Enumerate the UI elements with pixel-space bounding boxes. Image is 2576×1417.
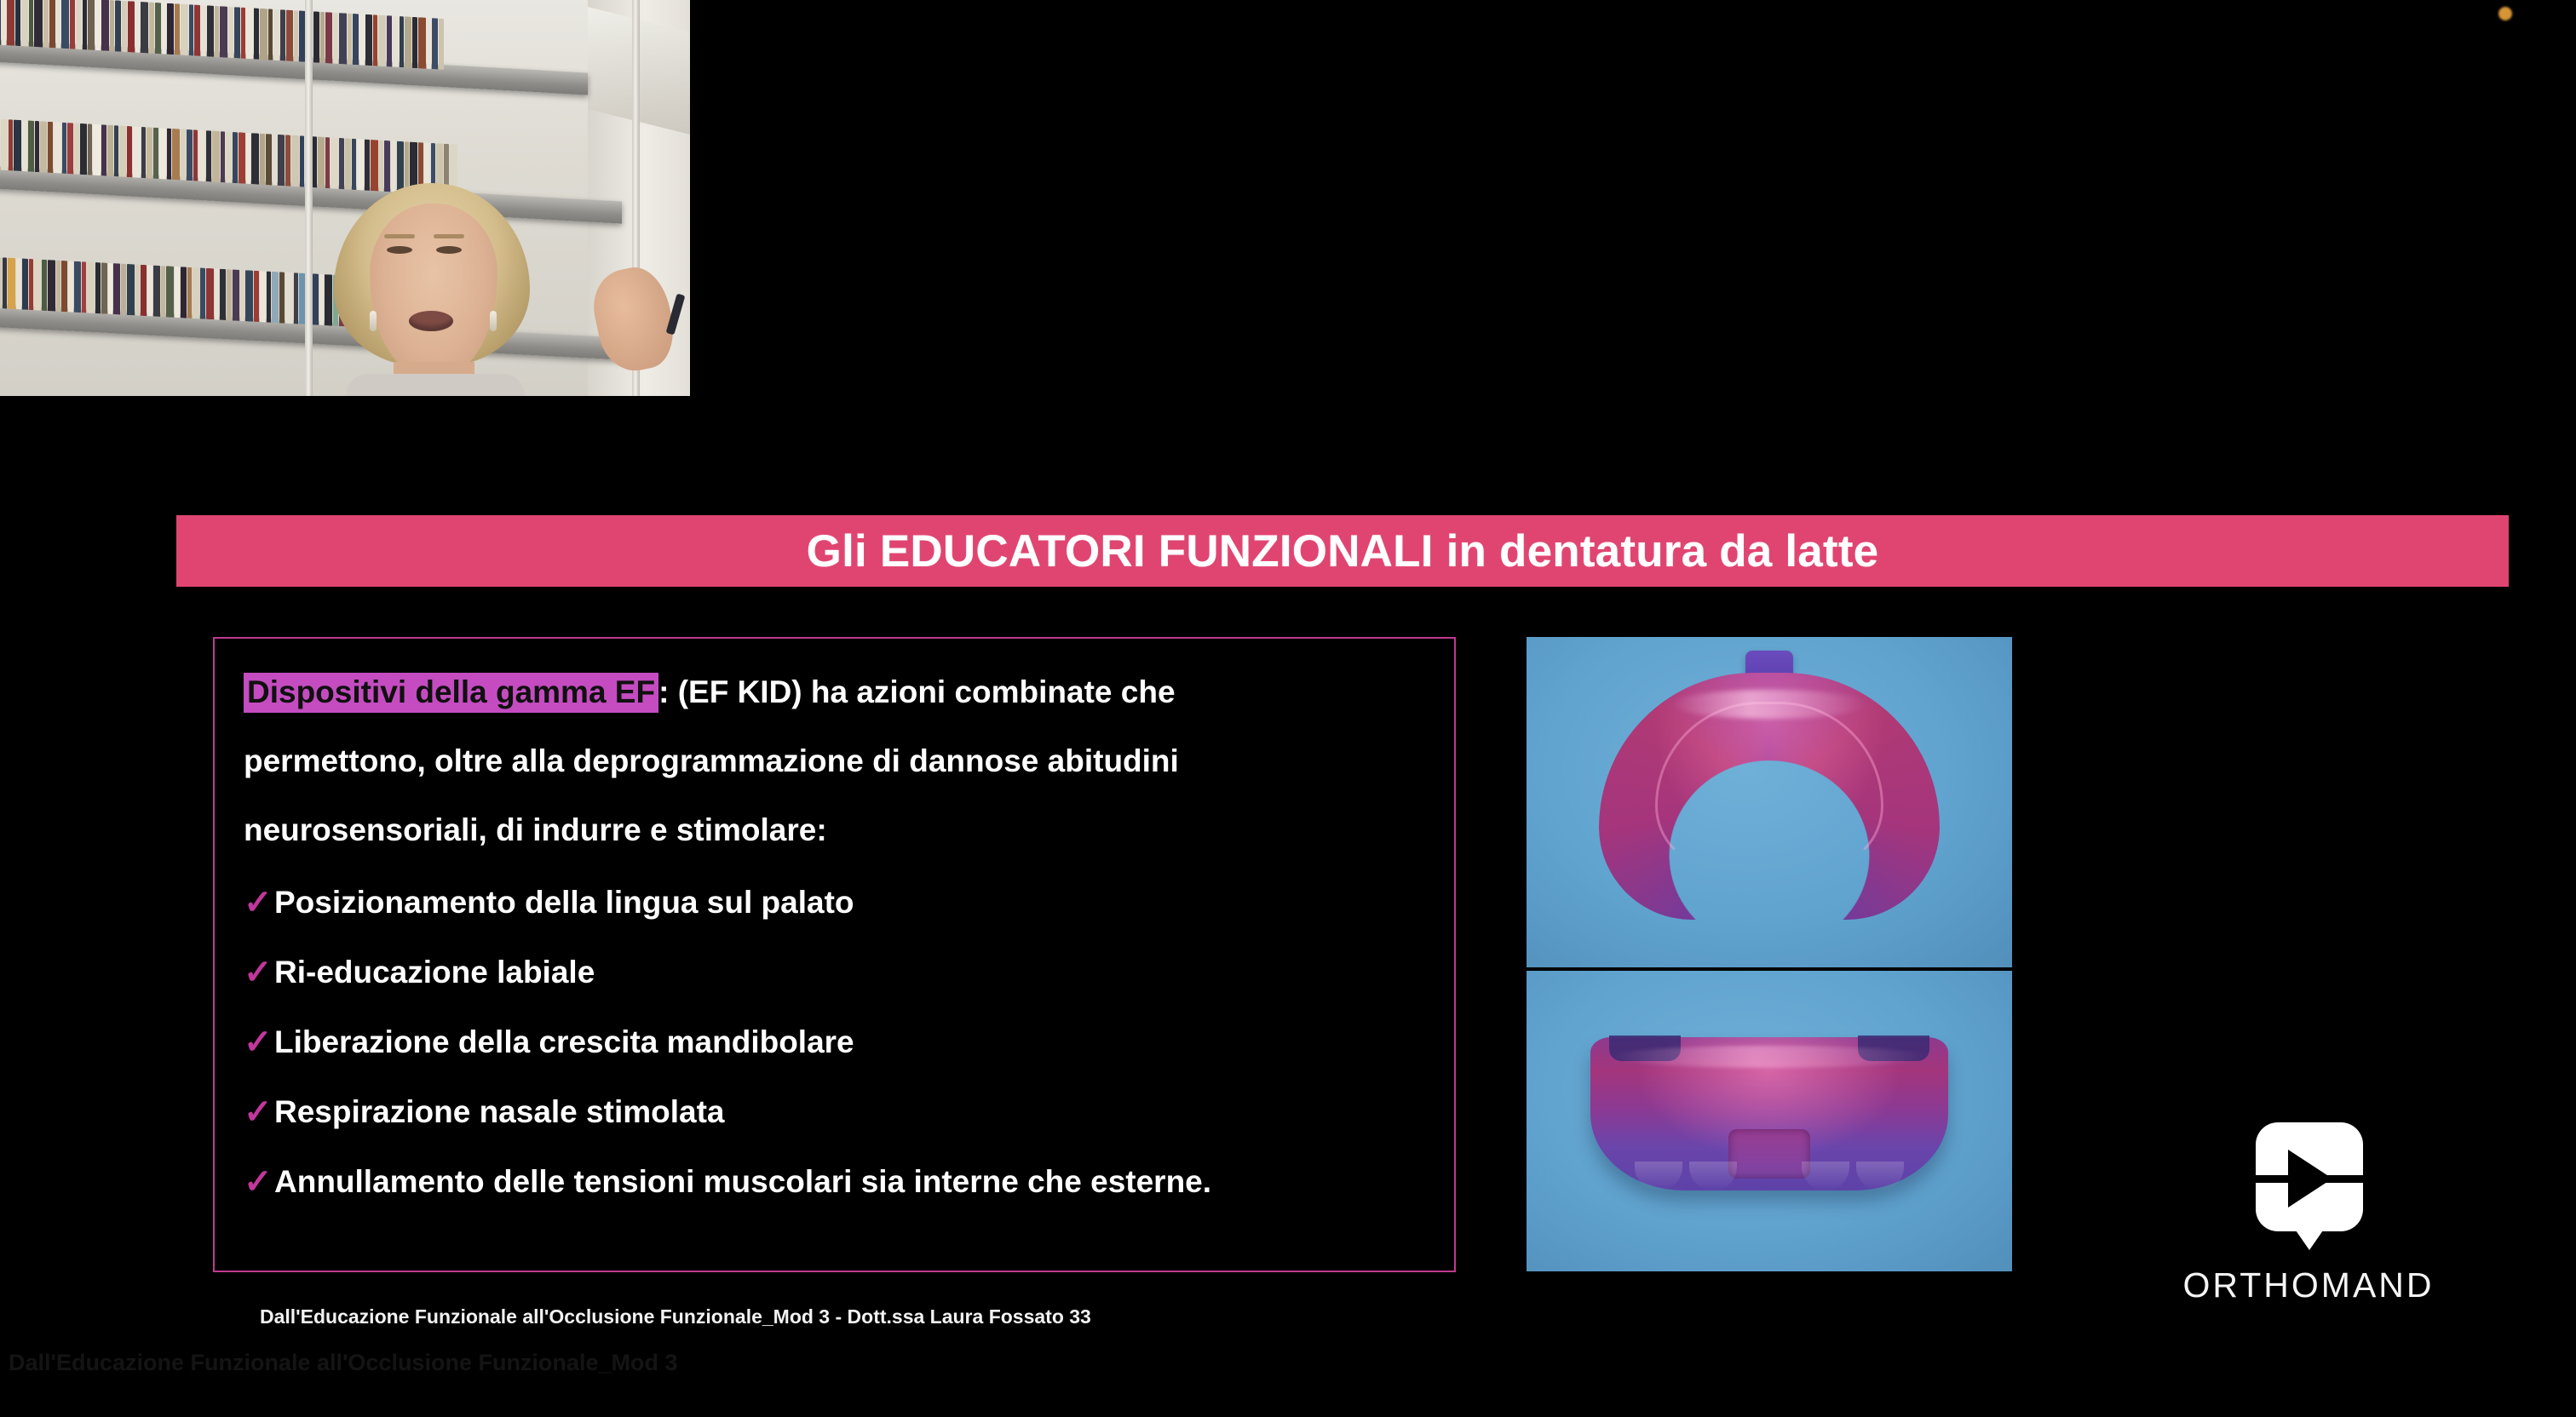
appliance-photo-occlusal xyxy=(1527,637,2012,967)
appliance-specular-highlight xyxy=(1671,690,1867,719)
list-item-label: Respirazione nasale stimolata xyxy=(274,1077,724,1147)
checkmark-icon: ✓ xyxy=(244,886,269,920)
checkmark-icon: ✓ xyxy=(244,1165,269,1199)
list-item-label: Liberazione della crescita mandibolare xyxy=(274,1007,854,1077)
list-item: ✓ Annullamento delle tensioni muscolari … xyxy=(244,1147,1425,1217)
presenter-shoulders xyxy=(346,374,525,396)
appliance-front-shape xyxy=(1590,1037,1948,1190)
list-item-label: Posizionamento della lingua sul palato xyxy=(274,868,854,938)
list-item: ✓ Respirazione nasale stimolata xyxy=(244,1077,1425,1147)
presenter-earring-left xyxy=(370,311,377,331)
presenter-mouth xyxy=(409,311,453,331)
slide-content-box: Dispositivi della gamma EF: (EF KID) ha … xyxy=(213,637,1456,1272)
presenter-eye-right xyxy=(436,246,462,254)
list-item-label: Annullamento delle tensioni muscolari si… xyxy=(274,1147,1211,1217)
presentation-screen: Gli EDUCATORI FUNZIONALI in dentatura da… xyxy=(0,0,2576,1417)
list-item: ✓ Liberazione della crescita mandibolare xyxy=(244,1007,1425,1077)
appliance-arch-shape xyxy=(1599,673,1940,920)
body-paragraph-line-1: Dispositivi della gamma EF: (EF KID) ha … xyxy=(244,657,1425,726)
presenter-eye-left xyxy=(387,246,412,254)
appliance-photo-frontal xyxy=(1527,971,2012,1271)
body-paragraph-line-2: permettono, oltre alla deprogrammazione … xyxy=(244,726,1425,795)
checkmark-icon: ✓ xyxy=(244,1025,269,1059)
slide-title-text: Gli EDUCATORI FUNZIONALI in dentatura da… xyxy=(807,525,1879,577)
appliance-incisal-notch xyxy=(1728,1129,1810,1179)
presenter-earring-right xyxy=(490,311,497,331)
webcam-background-room xyxy=(0,0,690,396)
play-triangle-icon xyxy=(2288,1150,2332,1208)
body-line-1-rest: : (EF KID) ha azioni combinate che xyxy=(658,674,1175,709)
checkmark-icon: ✓ xyxy=(244,955,269,990)
presenter-figure xyxy=(334,183,530,396)
presenter-eyebrow-right xyxy=(434,234,464,238)
recording-indicator-dot xyxy=(2498,7,2512,20)
slide-title-banner: Gli EDUCATORI FUNZIONALI in dentatura da… xyxy=(176,515,2509,587)
slide-footer-ghost: Dall'Educazione Funzionale all'Occlusion… xyxy=(9,1350,677,1376)
list-item-label: Ri-educazione labiale xyxy=(274,938,595,1007)
orthomand-logo: ORTHOMAND xyxy=(2181,1122,2436,1327)
body-paragraph-line-3: neurosensoriali, di indurre e stimolare: xyxy=(244,795,1425,864)
highlighted-term: Dispositivi della gamma EF xyxy=(244,673,658,713)
dental-appliance-photos xyxy=(1527,637,2012,1271)
logo-wordmark: ORTHOMAND xyxy=(2181,1265,2436,1305)
speech-bubble-tail-icon xyxy=(2294,1228,2325,1250)
presenter-webcam-video[interactable] xyxy=(0,0,690,396)
appliance-lip-highlight xyxy=(1612,1046,1927,1068)
presenter-eyebrow-left xyxy=(384,234,415,238)
list-item: ✓ Ri-educazione labiale xyxy=(244,938,1425,1007)
shelf-post xyxy=(305,0,313,396)
slide-footer-caption: Dall'Educazione Funzionale all'Occlusion… xyxy=(260,1305,1091,1328)
bullet-list: ✓ Posizionamento della lingua sul palato… xyxy=(244,868,1425,1217)
checkmark-icon: ✓ xyxy=(244,1095,269,1129)
list-item: ✓ Posizionamento della lingua sul palato xyxy=(244,868,1425,938)
